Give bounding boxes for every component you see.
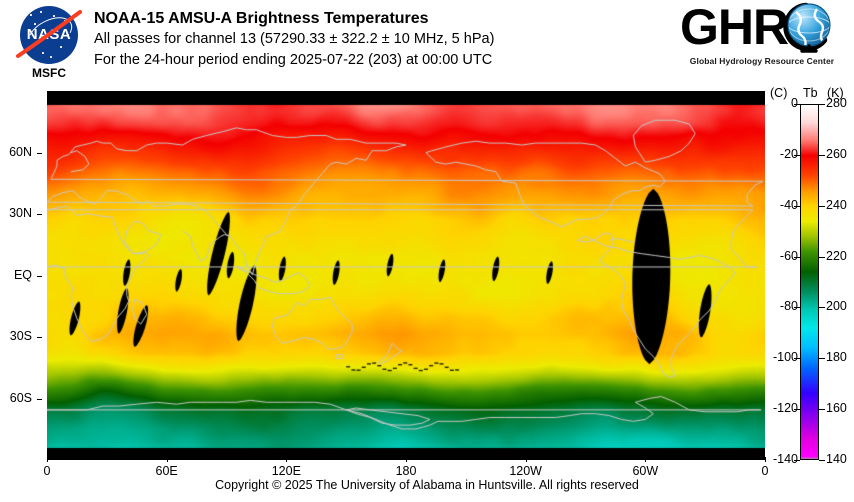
colorbar-celsius-label: -120 <box>773 401 798 415</box>
longitude-tick <box>47 457 48 462</box>
colorbar: (C) Tb (K) 2802602402202001801601400-20-… <box>770 86 854 476</box>
colorbar-celsius-label: -40 <box>780 198 798 212</box>
ghrc-tagline: Global Hydrology Resource Center <box>680 56 844 66</box>
colorbar-celsius-label: -100 <box>773 350 798 364</box>
colorbar-kelvin-label: 260 <box>826 147 847 161</box>
colorbar-celsius-label: -80 <box>780 299 798 313</box>
map-raster <box>47 91 765 460</box>
colorbar-kelvin-tick <box>819 104 825 105</box>
ghrc-logo: GHR Global Hydrology Resource Center <box>678 4 846 78</box>
longitude-tick-label: 120E <box>256 464 316 478</box>
page-title: NOAA-15 AMSU-A Brightness Temperatures <box>94 8 674 29</box>
channel-subtitle: All passes for channel 13 (57290.33 ± 32… <box>94 29 674 50</box>
colorbar-kelvin-tick <box>819 206 825 207</box>
colorbar-kelvin-tick <box>819 409 825 410</box>
colorbar-tb-header: Tb <box>803 86 818 100</box>
longitude-tick <box>406 457 407 462</box>
colorbar-gradient <box>800 104 819 460</box>
latitude-tick-label: EQ <box>14 268 32 282</box>
longitude-tick-label: 0 <box>17 464 77 478</box>
latitude-tick <box>37 276 42 277</box>
nasa-logo: NASA MSFC <box>12 6 84 84</box>
colorbar-kelvin-label: 200 <box>826 299 847 313</box>
colorbar-celsius-header: (C) <box>770 86 787 100</box>
brightness-temperature-map[interactable] <box>47 91 765 460</box>
latitude-tick-label: 60N <box>9 145 32 159</box>
longitude-tick <box>167 457 168 462</box>
longitude-tick <box>765 457 766 462</box>
svg-text:GHR: GHR <box>680 0 789 54</box>
longitude-tick <box>286 457 287 462</box>
copyright-notice: Copyright © 2025 The University of Alaba… <box>0 478 854 492</box>
colorbar-celsius-label: -140 <box>773 452 798 466</box>
title-block: NOAA-15 AMSU-A Brightness Temperatures A… <box>94 8 674 71</box>
colorbar-kelvin-tick <box>819 155 825 156</box>
latitude-tick <box>37 153 42 154</box>
colorbar-kelvin-label: 240 <box>826 198 847 212</box>
colorbar-kelvin-tick <box>819 257 825 258</box>
colorbar-gradient-fill <box>801 105 818 459</box>
latitude-tick <box>37 399 42 400</box>
latitude-tick-label: 60S <box>10 391 32 405</box>
latitude-tick <box>37 214 42 215</box>
colorbar-kelvin-label: 160 <box>826 401 847 415</box>
nasa-wordmark: NASA <box>20 27 78 42</box>
longitude-tick-label: 60E <box>137 464 197 478</box>
longitude-tick <box>645 457 646 462</box>
latitude-tick-label: 30S <box>10 329 32 343</box>
longitude-tick <box>526 457 527 462</box>
longitude-tick-label: 180 <box>376 464 436 478</box>
colorbar-kelvin-tick <box>819 358 825 359</box>
latitude-tick <box>37 337 42 338</box>
colorbar-kelvin-label: 140 <box>826 452 847 466</box>
latitude-axis: 60N30NEQ30S60S <box>0 91 42 460</box>
colorbar-kelvin-tick <box>819 307 825 308</box>
colorbar-celsius-label: -60 <box>780 249 798 263</box>
colorbar-kelvin-label: 180 <box>826 350 847 364</box>
latitude-tick-label: 30N <box>9 206 32 220</box>
colorbar-kelvin-tick <box>819 460 825 461</box>
nasa-center-label: MSFC <box>12 66 86 80</box>
ghrc-wordmark-icon: GHR <box>678 0 846 54</box>
colorbar-kelvin-label: 280 <box>826 96 847 110</box>
longitude-tick-label: 120W <box>496 464 556 478</box>
colorbar-kelvin-label: 220 <box>826 249 847 263</box>
colorbar-celsius-label: -20 <box>780 147 798 161</box>
nasa-meatball-icon: NASA <box>20 6 78 64</box>
period-subtitle: For the 24-hour period ending 2025-07-22… <box>94 50 674 71</box>
longitude-tick-label: 60W <box>615 464 675 478</box>
colorbar-celsius-label: 0 <box>791 96 798 110</box>
